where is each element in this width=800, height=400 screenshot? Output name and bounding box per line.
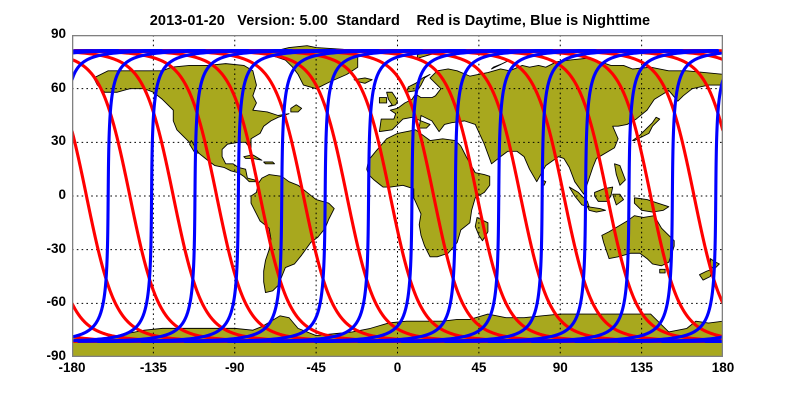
landmass — [264, 162, 275, 164]
x-tick-label: 90 — [520, 360, 600, 375]
x-tick-label: -45 — [276, 360, 356, 375]
y-tick-label: 0 — [58, 187, 66, 202]
y-tick-label: 30 — [51, 133, 66, 148]
y-tick-label: 60 — [51, 80, 66, 95]
x-tick-label: 0 — [358, 360, 438, 375]
y-tick-label: -30 — [46, 241, 66, 256]
plot-canvas — [72, 35, 723, 357]
landmass — [379, 98, 386, 103]
x-tick-label: -135 — [113, 360, 193, 375]
plot-area — [72, 35, 723, 357]
x-tick-label: -180 — [32, 360, 112, 375]
satellite-ground-track-chart: 2013-01-20 Version: 5.00 Standard Red is… — [0, 0, 800, 400]
y-tick-label: 90 — [51, 26, 66, 41]
landmass — [660, 269, 665, 273]
x-tick-label: 180 — [683, 360, 763, 375]
x-tick-label: 135 — [602, 360, 682, 375]
y-tick-label: -60 — [46, 294, 66, 309]
chart-title: 2013-01-20 Version: 5.00 Standard Red is… — [0, 13, 800, 29]
x-tick-label: 45 — [439, 360, 519, 375]
x-tick-label: -90 — [195, 360, 275, 375]
